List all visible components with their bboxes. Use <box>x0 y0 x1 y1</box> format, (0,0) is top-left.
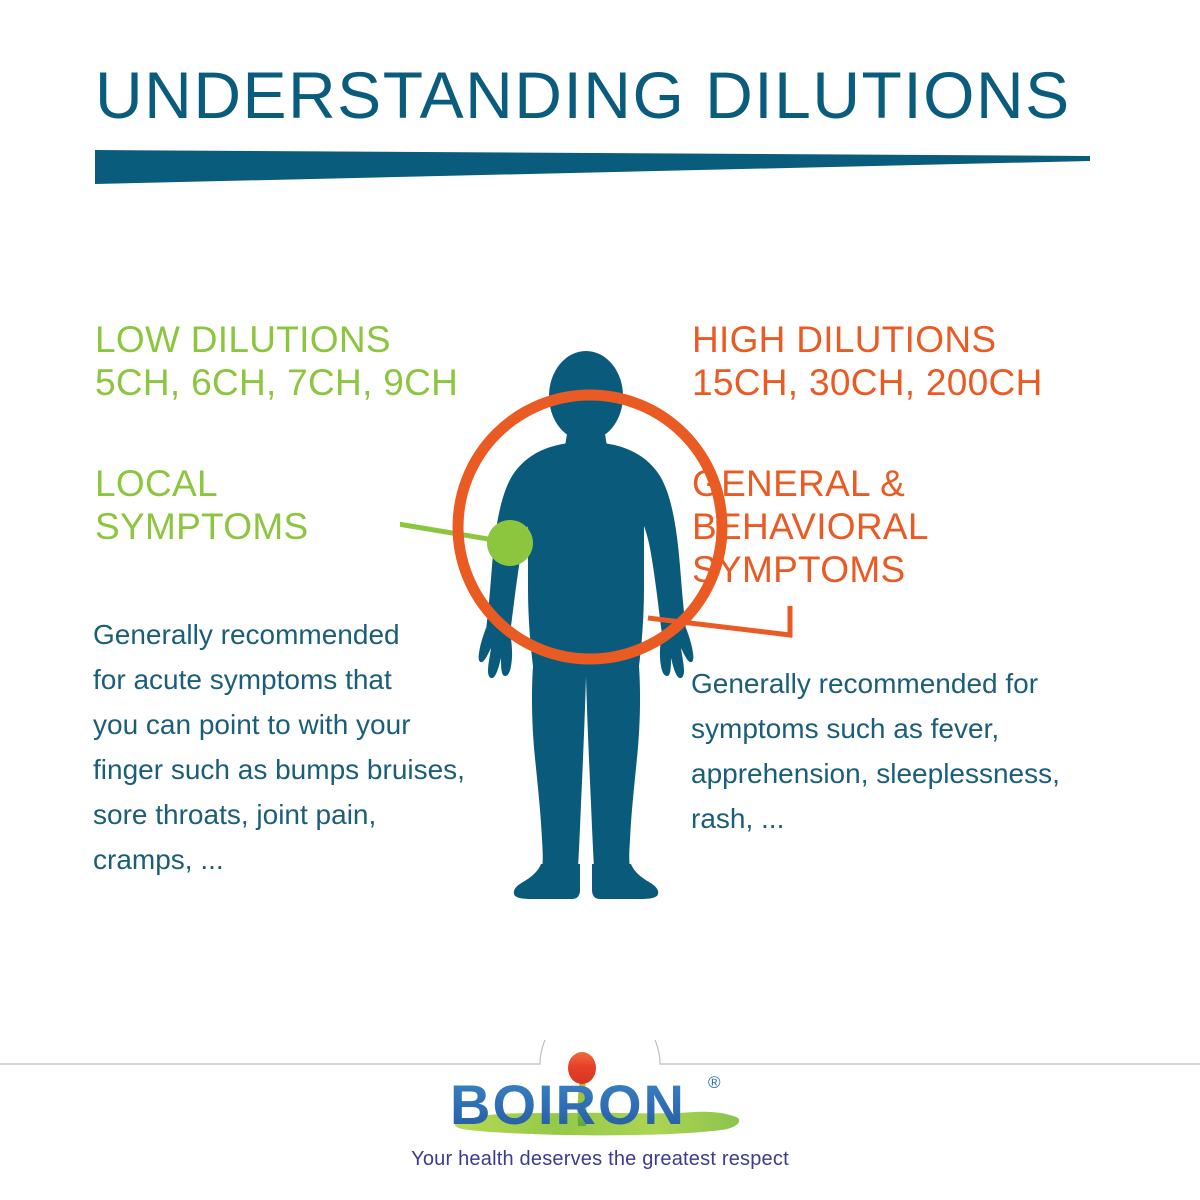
title-underline-wedge <box>95 148 1090 188</box>
local-symptom-marker-dot <box>487 520 533 566</box>
registered-trademark-icon: ® <box>708 1073 721 1092</box>
human-body-silhouette <box>479 351 694 899</box>
boiron-wordmark: BOIRON <box>450 1073 686 1136</box>
page-title: UNDERSTANDING DILUTIONS <box>95 56 1105 134</box>
body-illustration <box>400 330 880 900</box>
local-symptoms-heading: LOCAL SYMPTOMS <box>95 462 308 548</box>
infographic-page: UNDERSTANDING DILUTIONS LOW DILUTIONS 5C… <box>0 0 1200 1200</box>
boiron-logo: BOIRON ® <box>440 1052 760 1148</box>
footer-tagline: Your health deserves the greatest respec… <box>0 1148 1200 1171</box>
